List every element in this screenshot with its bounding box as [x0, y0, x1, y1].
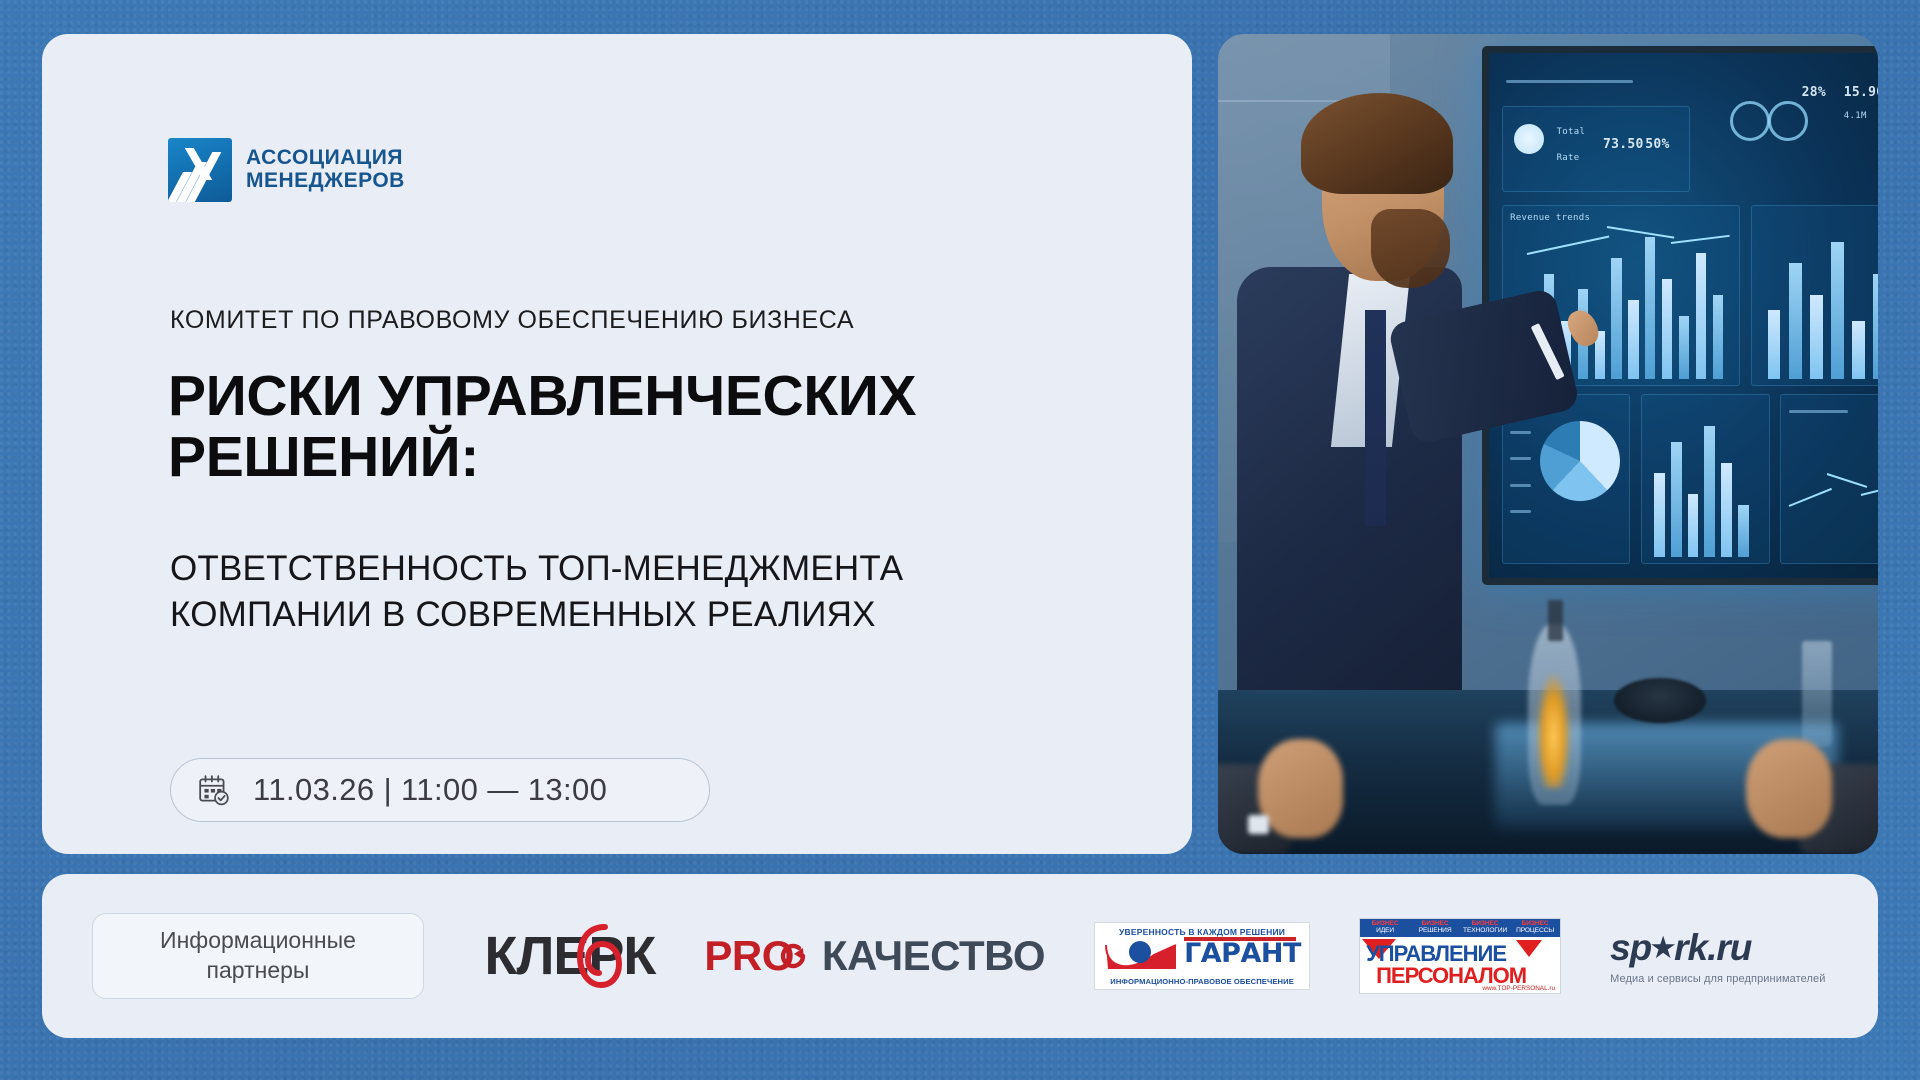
- partner-logo-pro-kachestvo[interactable]: PRO КАЧЕСТВО: [704, 932, 1045, 980]
- uprav-arrow-right-icon: [1516, 940, 1542, 957]
- event-datetime-chip[interactable]: 11.03.26 | 11:00 — 13:00: [170, 758, 710, 822]
- presenter-cuff: [1531, 323, 1564, 380]
- pro-kachestvo-pro: PRO: [704, 932, 794, 980]
- partner-logo-garant[interactable]: УВЕРЕННОСТЬ В КАЖДОМ РЕШЕНИИ ГАРАНТ ИНФО…: [1094, 922, 1310, 990]
- event-info-card: АССОЦИАЦИЯ МЕНЕДЖЕРОВ КОМИТЕТ ПО ПРАВОВО…: [42, 34, 1192, 854]
- mountain-chevron-mark: [168, 138, 232, 202]
- garant-wordmark: ГАРАНТ: [1184, 938, 1301, 969]
- spark-tagline: Медиа и сервисы для предпринимателей: [1610, 973, 1825, 985]
- water-glass: [1802, 641, 1832, 748]
- event-poster: АССОЦИАЦИЯ МЕНЕДЖЕРОВ КОМИТЕТ ПО ПРАВОВО…: [0, 0, 1920, 1080]
- partner-logo-upravlenie-personalom[interactable]: БИЗНЕСИДЕИ БИЗНЕСРЕШЕНИЯ БИЗНЕСТЕХНОЛОГИ…: [1359, 918, 1561, 994]
- carafe-warm-glow: [1537, 674, 1570, 789]
- association-logo-text: АССОЦИАЦИЯ МЕНЕДЖЕРОВ: [246, 147, 405, 192]
- uprav-tab: БИЗНЕСПРОЦЕССЫ: [1510, 919, 1560, 937]
- partners-bar: Информационные партнеры КЛЕРК PRO КАЧЕСТ…: [42, 874, 1878, 1038]
- uprav-tab: БИЗНЕСИДЕИ: [1360, 919, 1410, 937]
- foreground-watch: [1248, 815, 1269, 835]
- event-photo: Total Rate 73.50 50% 28% 15.90% 4.1M Rev…: [1218, 34, 1878, 854]
- logo-line-1: АССОЦИАЦИЯ: [246, 147, 405, 170]
- presenter-tie: [1365, 310, 1386, 526]
- uprav-mark: УПРАВЛЕНИЕ ПЕРСОНАЛОМ www.TOP-PERSONAL.r…: [1360, 937, 1560, 993]
- spark-part-2: rk.ru: [1674, 927, 1751, 969]
- garant-tagline-top: УВЕРЕННОСТЬ В КАЖДОМ РЕШЕНИИ: [1119, 927, 1285, 937]
- poster-top-row: АССОЦИАЦИЯ МЕНЕДЖЕРОВ КОМИТЕТ ПО ПРАВОВО…: [42, 34, 1878, 854]
- uprav-url: www.TOP-PERSONAL.ru: [1482, 985, 1555, 992]
- uprav-tab: БИЗНЕСРЕШЕНИЯ: [1410, 919, 1460, 937]
- meeting-room-scene: Total Rate 73.50 50% 28% 15.90% 4.1M Rev…: [1218, 34, 1878, 854]
- subtitle-line-1: ОТВЕТСТВЕННОСТЬ ТОП-МЕНЕДЖМЕНТА: [170, 546, 1150, 592]
- logo-line-2: МЕНЕДЖЕРОВ: [246, 170, 405, 193]
- title-line-2: РЕШЕНИЙ:: [168, 427, 1128, 488]
- calendar-check-icon: [197, 773, 231, 807]
- page-title: РИСКИ УПРАВЛЕНЧЕСКИХ РЕШЕНИЙ:: [168, 366, 1128, 488]
- partners-label-line-2: партнеры: [207, 956, 310, 986]
- event-datetime-text: 11.03.26 | 11:00 — 13:00: [253, 772, 607, 808]
- event-subtitle: ОТВЕТСТВЕННОСТЬ ТОП-МЕНЕДЖМЕНТА КОМПАНИИ…: [170, 546, 1150, 638]
- uprav-tabs: БИЗНЕСИДЕИ БИЗНЕСРЕШЕНИЯ БИЗНЕСТЕХНОЛОГИ…: [1360, 919, 1560, 937]
- table-plate: [1614, 678, 1706, 723]
- star-icon: ★: [1649, 930, 1676, 966]
- subtitle-line-2: КОМПАНИИ В СОВРЕМЕННЫХ РЕАЛИЯХ: [170, 592, 1150, 638]
- committee-label: КОМИТЕТ ПО ПРАВОВОМУ ОБЕСПЕЧЕНИЮ БИЗНЕСА: [170, 306, 854, 335]
- partner-logo-spark[interactable]: sp ★ rk.ru Медиа и сервисы для предприни…: [1610, 927, 1825, 985]
- foreground-hand-left: [1258, 739, 1344, 837]
- paperclip-icon: [571, 919, 629, 993]
- partners-label-line-1: Информационные: [160, 926, 356, 956]
- garant-mark: ГАРАНТ: [1104, 937, 1300, 977]
- presenter-beard: [1371, 209, 1450, 288]
- uprav-tab: БИЗНЕСТЕХНОЛОГИИ: [1460, 919, 1510, 937]
- partners-label: Информационные партнеры: [92, 913, 424, 999]
- foreground-hand-right: [1746, 739, 1832, 837]
- garant-wave-icon: [1104, 939, 1182, 975]
- partner-logo-klerk[interactable]: КЛЕРК: [485, 925, 656, 987]
- partner-logo-list: КЛЕРК PRO КАЧЕСТВО УВЕРЕННОСТЬ В КАЖДОМ …: [424, 918, 1878, 994]
- association-logo[interactable]: АССОЦИАЦИЯ МЕНЕДЖЕРОВ: [168, 138, 405, 202]
- spark-wordmark: sp ★ rk.ru: [1610, 927, 1751, 969]
- pro-kachestvo-kachestvo: КАЧЕСТВО: [822, 932, 1045, 980]
- garant-tagline-bottom: ИНФОРМАЦИОННО-ПРАВОВОЕ ОБЕСПЕЧЕНИЕ: [1110, 977, 1294, 986]
- presenter-hair: [1301, 93, 1453, 194]
- title-line-1: РИСКИ УПРАВЛЕНЧЕСКИХ: [168, 366, 1128, 427]
- spark-part-1: sp: [1610, 927, 1651, 969]
- carafe-neck: [1548, 600, 1563, 641]
